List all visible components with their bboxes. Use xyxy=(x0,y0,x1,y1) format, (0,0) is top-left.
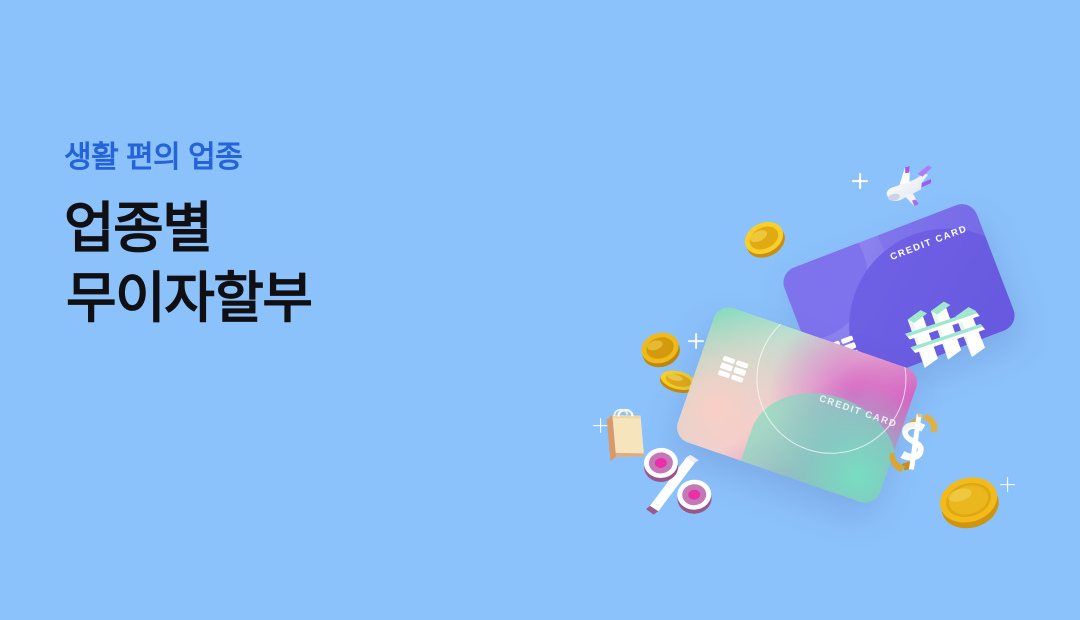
banner-subtitle: 생활 편의 업종 xyxy=(64,138,544,179)
promo-banner: 생활 편의 업종 업종별 무이자할부 xyxy=(0,0,1080,620)
airplane-icon xyxy=(876,158,940,214)
coin-large-icon xyxy=(930,460,1006,536)
coin-top-icon xyxy=(738,212,790,264)
sparkle-near-coins-icon xyxy=(688,333,704,349)
banner-title-line-1: 업종별 xyxy=(64,193,544,263)
percent-symbol-icon xyxy=(636,438,714,518)
holo-card-chip-icon xyxy=(718,356,749,383)
banner-title: 업종별 무이자할부 xyxy=(64,193,544,334)
credit-card-illustration: CREDIT CARD xyxy=(560,130,1080,580)
banner-title-line-2: 무이자할부 xyxy=(64,263,544,333)
banner-text-block: 생활 편의 업종 업종별 무이자할부 xyxy=(64,138,544,333)
sparkle-near-plane-icon xyxy=(852,173,868,189)
